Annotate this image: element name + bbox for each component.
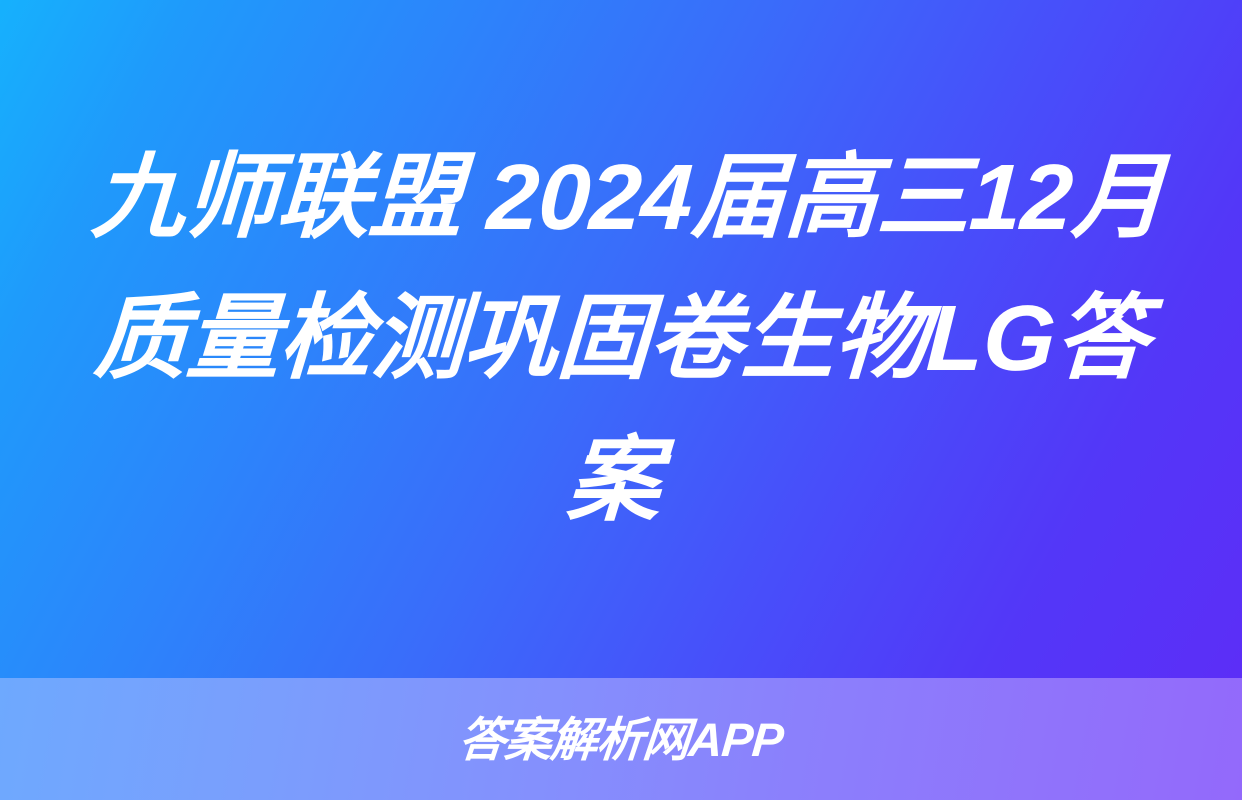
- hero-banner: 九师联盟 2024届高三12月质量检测巩固卷生物LG答案: [0, 0, 1242, 678]
- watermark-band: 答案解析网APP: [0, 678, 1242, 800]
- poster-canvas: 九师联盟 2024届高三12月质量检测巩固卷生物LG答案 答案解析网APP: [0, 0, 1242, 800]
- page-title: 九师联盟 2024届高三12月质量检测巩固卷生物LG答案: [61, 127, 1181, 551]
- app-watermark-label: 答案解析网APP: [457, 716, 785, 763]
